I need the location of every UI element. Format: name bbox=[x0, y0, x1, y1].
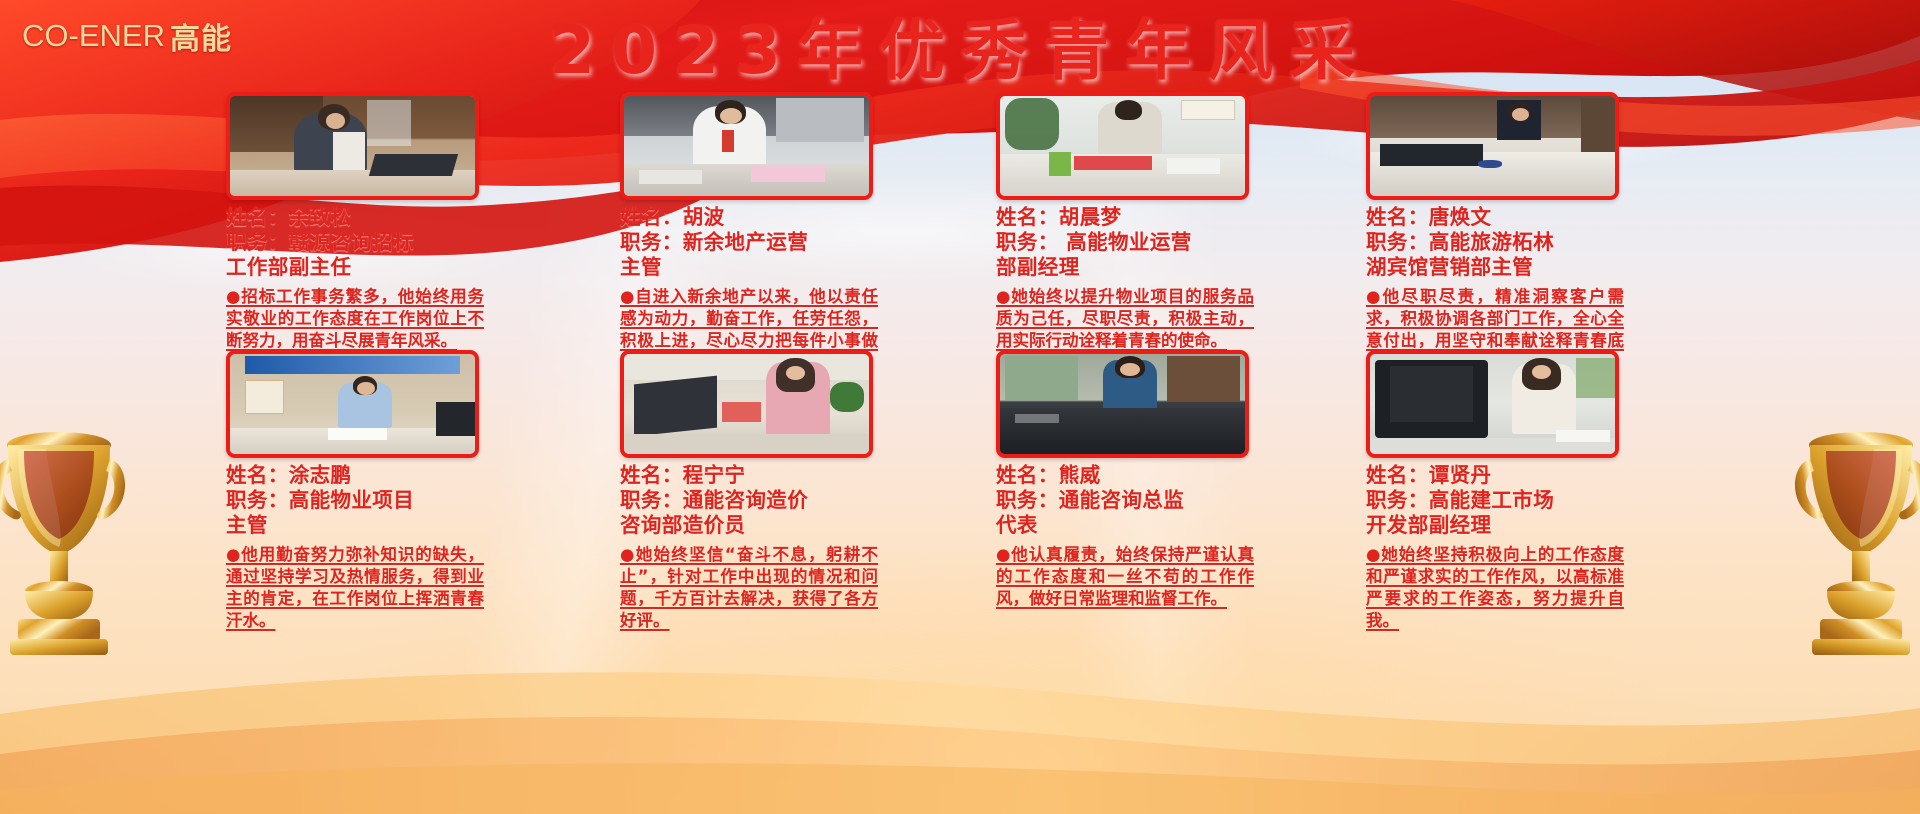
profile-grid-row-2: 姓名：涂志鹏 职务：高能物业项目 主管 ●他用勤奋努力弥补知识的缺失，通过坚持学… bbox=[0, 350, 1920, 632]
profile-name: 姓名：涂志鹏 bbox=[226, 463, 526, 488]
profile-position-line2: 主管 bbox=[226, 513, 526, 538]
profile-description: ●招标工作事务繁多，他始终用务实敬业的工作态度在工作岗位上不断努力，用奋斗尽展青… bbox=[226, 286, 484, 352]
profile-card: 姓名：谭贤丹 职务：高能建工市场 开发部副经理 ●她始终坚持积极向上的工作态度和… bbox=[1330, 350, 1700, 632]
profile-description: ●他用勤奋努力弥补知识的缺失，通过坚持学习及热情服务，得到业主的肯定，在工作岗位… bbox=[226, 544, 484, 632]
profile-position-line2: 开发部副经理 bbox=[1366, 513, 1666, 538]
profile-position-line1: 职务：高能物业项目 bbox=[226, 488, 526, 513]
page-title: 2023年优秀青年风采 bbox=[0, 16, 1920, 85]
profile-position-line1: 职务：高能建工市场 bbox=[1366, 488, 1666, 513]
profile-photo bbox=[1366, 92, 1619, 200]
profile-photo bbox=[996, 350, 1249, 458]
profile-name: 姓名：熊威 bbox=[996, 463, 1296, 488]
profile-card: 姓名：余致松 职务：赣源咨询招标 工作部副主任 ●招标工作事务繁多，他始终用务实… bbox=[220, 92, 590, 374]
profile-card: 姓名：涂志鹏 职务：高能物业项目 主管 ●他用勤奋努力弥补知识的缺失，通过坚持学… bbox=[220, 350, 590, 632]
profile-photo bbox=[1366, 350, 1619, 458]
profile-position-line1: 职务：通能咨询造价 bbox=[620, 488, 920, 513]
profile-description: ●她始终坚持积极向上的工作态度和严谨求实的工作作风，以高标准严要求的工作姿态，努… bbox=[1366, 544, 1624, 632]
profile-card: 姓名：唐焕文 职务：高能旅游柘林 湖宾馆营销部主管 ●他尽职尽责，精准洞察客户需… bbox=[1330, 92, 1700, 374]
profile-position-line1: 职务：高能旅游柘林 bbox=[1366, 230, 1666, 255]
profile-position-line1: 职务：新余地产运营 bbox=[620, 230, 920, 255]
profile-photo bbox=[620, 350, 873, 458]
profile-grid-row-1: 姓名：余致松 职务：赣源咨询招标 工作部副主任 ●招标工作事务繁多，他始终用务实… bbox=[0, 92, 1920, 374]
profile-position-line2: 部副经理 bbox=[996, 255, 1296, 280]
profile-position-line2: 主管 bbox=[620, 255, 920, 280]
profile-photo bbox=[226, 92, 479, 200]
profile-meta: 姓名：余致松 职务：赣源咨询招标 工作部副主任 bbox=[226, 205, 526, 280]
profile-meta: 姓名：涂志鹏 职务：高能物业项目 主管 bbox=[226, 463, 526, 538]
profile-name: 姓名：程宁宁 bbox=[620, 463, 920, 488]
profile-card: 姓名：熊威 职务：通能咨询总监 代表 ●他认真履责，始终保持严谨认真的工作态度和… bbox=[960, 350, 1330, 632]
profile-name: 姓名：唐焕文 bbox=[1366, 205, 1666, 230]
profile-card: 姓名：胡波 职务：新余地产运营 主管 ●自进入新余地产以来，他以责任感为动力，勤… bbox=[590, 92, 960, 374]
profile-position-line2: 湖宾馆营销部主管 bbox=[1366, 255, 1666, 280]
profile-meta: 姓名：谭贤丹 职务：高能建工市场 开发部副经理 bbox=[1366, 463, 1666, 538]
profile-name: 姓名：胡晨梦 bbox=[996, 205, 1296, 230]
profile-description: ●他认真履责，始终保持严谨认真的工作态度和一丝不苟的工作作风，做好日常监理和监督… bbox=[996, 544, 1254, 610]
profile-meta: 姓名：唐焕文 职务：高能旅游柘林 湖宾馆营销部主管 bbox=[1366, 205, 1666, 280]
profile-card: 姓名：胡晨梦 职务： 高能物业运营 部副经理 ●她始终以提升物业项目的服务品质为… bbox=[960, 92, 1330, 374]
profile-position-line1: 职务： 高能物业运营 bbox=[996, 230, 1296, 255]
profile-name: 姓名：余致松 bbox=[226, 205, 526, 230]
profile-position-line1: 职务：赣源咨询招标 bbox=[226, 230, 526, 255]
profile-name: 姓名：胡波 bbox=[620, 205, 920, 230]
profile-photo bbox=[226, 350, 479, 458]
profile-description: ●她始终坚信“奋斗不息，躬耕不止”，针对工作中出现的情况和问题，千方百计去解决，… bbox=[620, 544, 878, 632]
profile-photo bbox=[996, 92, 1249, 200]
profile-meta: 姓名：胡波 职务：新余地产运营 主管 bbox=[620, 205, 920, 280]
profile-photo bbox=[620, 92, 873, 200]
profile-meta: 姓名：程宁宁 职务：通能咨询造价 咨询部造价员 bbox=[620, 463, 920, 538]
profile-description: ●她始终以提升物业项目的服务品质为己任，尽职尽责，积极主动，用实际行动诠释着青春… bbox=[996, 286, 1254, 352]
profile-meta: 姓名：熊威 职务：通能咨询总监 代表 bbox=[996, 463, 1296, 538]
profile-card: 姓名：程宁宁 职务：通能咨询造价 咨询部造价员 ●她始终坚信“奋斗不息，躬耕不止… bbox=[590, 350, 960, 632]
profile-name: 姓名：谭贤丹 bbox=[1366, 463, 1666, 488]
profile-position-line2: 工作部副主任 bbox=[226, 255, 526, 280]
profile-position-line1: 职务：通能咨询总监 bbox=[996, 488, 1296, 513]
profile-position-line2: 代表 bbox=[996, 513, 1296, 538]
profile-meta: 姓名：胡晨梦 职务： 高能物业运营 部副经理 bbox=[996, 205, 1296, 280]
profile-position-line2: 咨询部造价员 bbox=[620, 513, 920, 538]
